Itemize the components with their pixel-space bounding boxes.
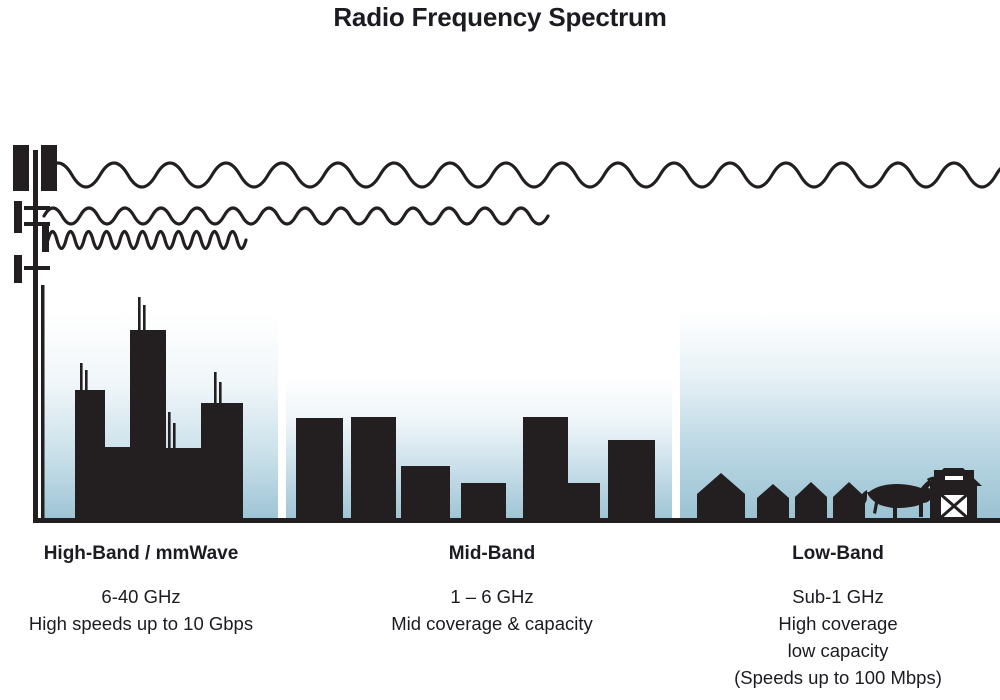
band-column-low-band: Low-Band Sub-1 GHz High coverage low cap… [676, 543, 1000, 691]
band-details-low-band: Sub-1 GHz High coverage low capacity (Sp… [676, 583, 1000, 691]
tower-crossbar-lower [24, 266, 50, 270]
building-skyscraper [104, 447, 131, 520]
building-spire [143, 305, 146, 333]
band-column-high-band: High-Band / mmWave 6-40 GHz High speeds … [0, 543, 282, 637]
antenna-panel-top-left [13, 145, 29, 191]
building-spire [168, 412, 171, 452]
building-midrise [461, 483, 506, 520]
band-detail-mid-band-0: Mid coverage & capacity [332, 610, 652, 637]
building-midrise [523, 417, 568, 520]
tower-secondary-leg [41, 285, 45, 520]
antenna-panel-mid-upper [14, 201, 22, 233]
radio-waves [44, 163, 1000, 249]
band-details-mid-band: 1 – 6 GHz Mid coverage & capacity [332, 583, 652, 637]
building-spire [214, 372, 217, 406]
building-midrise [351, 417, 396, 520]
building-skyscraper [201, 403, 243, 520]
mid-band-wave [44, 208, 548, 224]
tower-mast [33, 150, 38, 520]
band-name-mid-band: Mid-Band [332, 543, 652, 565]
building-spire [138, 297, 141, 333]
building-midrise [608, 440, 655, 520]
building-skyscraper [130, 330, 166, 520]
building-skyscraper [75, 390, 105, 520]
band-frequency-high-band: 6-40 GHz [0, 583, 282, 610]
tower-crossbar-upper-a [24, 206, 50, 210]
band-detail-high-band-0: High speeds up to 10 Gbps [0, 610, 282, 637]
infographic-root: Radio Frequency Spectrum [0, 0, 1000, 700]
building-spire [80, 363, 83, 393]
ground-line [33, 518, 1000, 523]
band-labels: High-Band / mmWave 6-40 GHz High speeds … [0, 543, 1000, 700]
antenna-panel-lower-left [14, 255, 22, 283]
band-frequency-low-band: Sub-1 GHz [676, 583, 1000, 610]
band-column-mid-band: Mid-Band 1 – 6 GHz Mid coverage & capaci… [332, 543, 652, 637]
band-details-high-band: 6-40 GHz High speeds up to 10 Gbps [0, 583, 282, 637]
antenna-panel-top-right [41, 145, 57, 191]
band-frequency-mid-band: 1 – 6 GHz [332, 583, 652, 610]
band-detail-low-band-0: High coverage [676, 610, 1000, 637]
building-midrise [401, 466, 450, 520]
band-detail-low-band-2: (Speeds up to 100 Mbps) [676, 664, 1000, 691]
band-name-low-band: Low-Band [676, 543, 1000, 565]
antenna-panel-mid-right [42, 224, 49, 252]
high-band-wave [48, 232, 246, 249]
band-detail-low-band-1: low capacity [676, 637, 1000, 664]
barn-roof-vent [945, 476, 963, 480]
band-name-high-band: High-Band / mmWave [0, 543, 282, 565]
low-band-wave [44, 163, 1000, 187]
building-midrise [296, 418, 343, 520]
building-skyscraper [166, 448, 201, 520]
building-midrise [568, 483, 600, 520]
